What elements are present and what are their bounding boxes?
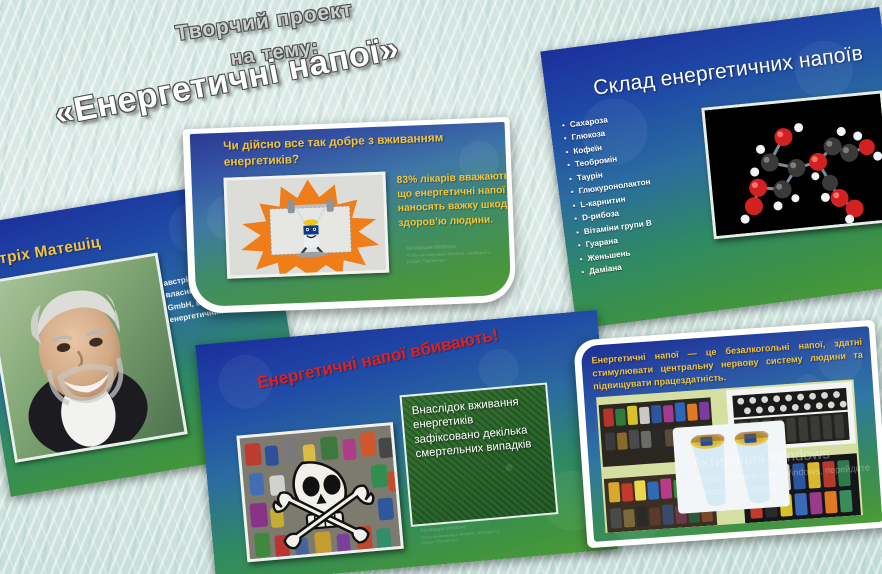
presentation-canvas: Дітріх Матешіц	[0, 0, 882, 574]
slide-killing[interactable]: Енергетичні напої вбивають!	[195, 310, 617, 574]
watermark-heading: Активация Windows	[406, 242, 498, 253]
molecule-model-image	[701, 90, 882, 239]
skull-graphic	[240, 425, 404, 562]
consequence-textbox: Внаслідок вживання енергетиків зафіксова…	[399, 383, 558, 527]
slide-statistic-text: 83% лікарів вважають, що енергетичні нап…	[396, 170, 511, 231]
slide-definition[interactable]: Енергетичні напої — це безалкогольні нап…	[573, 320, 882, 549]
starburst-graphic	[227, 174, 390, 278]
slide-inner: Чи дійсно все так добре з вживанням енер…	[190, 122, 511, 307]
molecule-diagram	[705, 93, 882, 239]
deck-title: Творчий проект на тему: «Енергетичні нап…	[0, 0, 620, 140]
energy-drinks-collage-image	[596, 379, 863, 533]
starburst-weightlifter-can-image	[223, 172, 389, 279]
portrait-dietrich-mateschitz	[0, 252, 188, 462]
slide-inner: Енергетичні напої — це безалкогольні нап…	[581, 326, 882, 542]
collage-graphic	[596, 379, 863, 533]
skull-and-cans-image	[236, 422, 403, 562]
deck-title-line-1: Творчий проект	[174, 0, 354, 46]
consequence-text: Внаслідок вживання енергетиків зафіксова…	[411, 393, 545, 461]
deck-title-line-3: «Енергетичні напої»	[51, 29, 402, 134]
windows-activation-watermark-small: Активация Windows Чтобы активировать Win…	[406, 242, 499, 264]
slide-question[interactable]: Чи дійсно все так добре з вживанням енер…	[183, 117, 517, 314]
watermark-body: Чтобы активировать Windows, перейдите в …	[406, 250, 498, 265]
portrait-image	[0, 256, 184, 459]
